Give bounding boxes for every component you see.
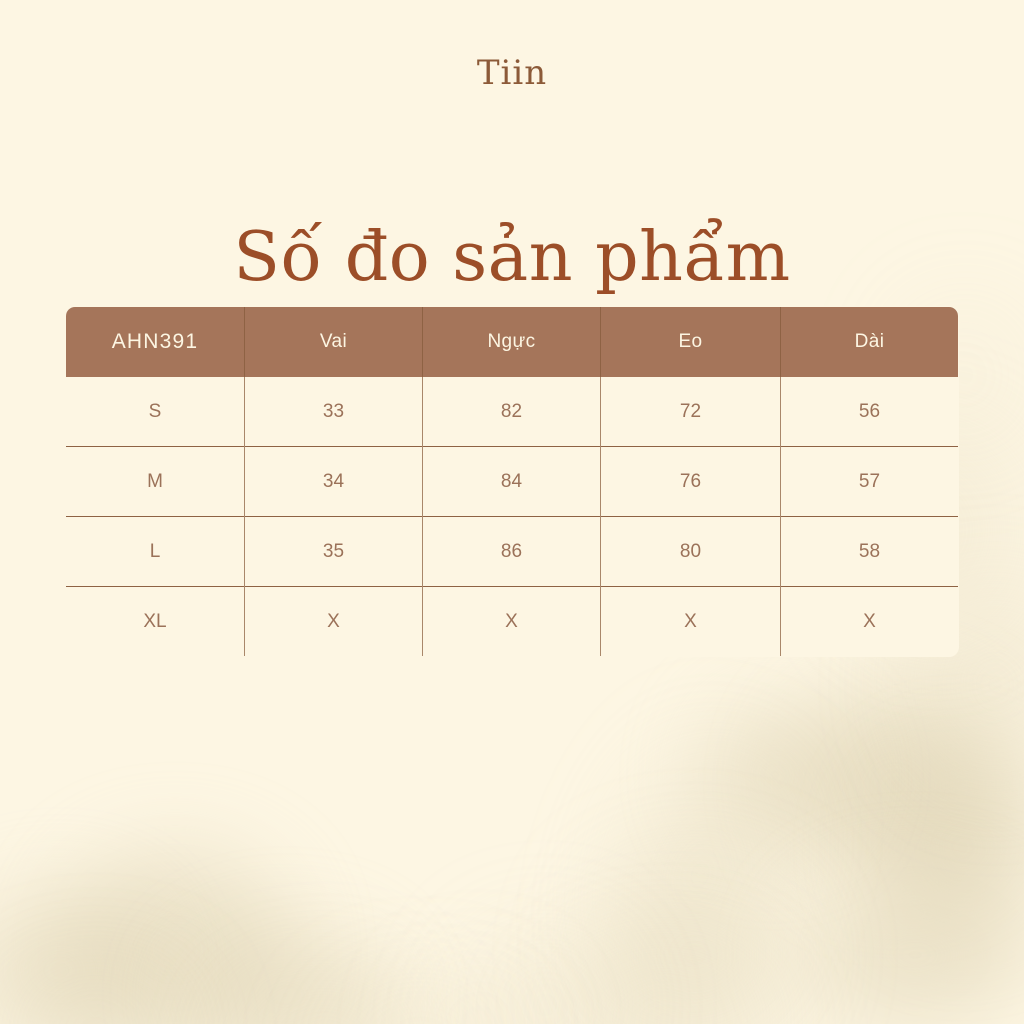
- cell-eo: 76: [601, 447, 781, 517]
- cell-eo: 80: [601, 517, 781, 587]
- cell-nguc: 86: [423, 517, 601, 587]
- cell-dai: 58: [781, 517, 959, 587]
- cell-dai: X: [781, 587, 959, 657]
- cell-vai: X: [245, 587, 423, 657]
- table-header-dai: Dài: [781, 307, 959, 378]
- table-header-eo: Eo: [601, 307, 781, 378]
- cell-size: S: [66, 377, 245, 447]
- table-body: S 33 82 72 56 M 34 84 76 57 L 35 86: [66, 377, 959, 657]
- cell-nguc: X: [423, 587, 601, 657]
- table-header-vai: Vai: [245, 307, 423, 378]
- table-header: AHN391 Vai Ngực Eo Dài: [66, 307, 959, 378]
- size-chart-page: Tiin Số đo sản phẩm AHN391 Vai Ngực Eo D…: [0, 0, 1024, 1024]
- brand-logo: Tiin: [0, 56, 1024, 90]
- page-title: Số đo sản phẩm: [0, 222, 1024, 293]
- table-row: L 35 86 80 58: [66, 517, 959, 587]
- table-header-row: AHN391 Vai Ngực Eo Dài: [66, 307, 959, 378]
- table-header-product-code: AHN391: [66, 307, 245, 378]
- cell-dai: 56: [781, 377, 959, 447]
- cell-nguc: 84: [423, 447, 601, 517]
- cell-eo: 72: [601, 377, 781, 447]
- cell-nguc: 82: [423, 377, 601, 447]
- table-row: S 33 82 72 56: [66, 377, 959, 447]
- cell-size: XL: [66, 587, 245, 657]
- size-table-container: AHN391 Vai Ngực Eo Dài S 33 82 72 56 M 3: [65, 306, 958, 654]
- cell-eo: X: [601, 587, 781, 657]
- product-measurement-table: AHN391 Vai Ngực Eo Dài S 33 82 72 56 M 3: [65, 306, 959, 657]
- table-row: M 34 84 76 57: [66, 447, 959, 517]
- cell-size: M: [66, 447, 245, 517]
- cell-size: L: [66, 517, 245, 587]
- table-row: XL X X X X: [66, 587, 959, 657]
- cell-dai: 57: [781, 447, 959, 517]
- cell-vai: 34: [245, 447, 423, 517]
- table-header-nguc: Ngực: [423, 307, 601, 378]
- cell-vai: 33: [245, 377, 423, 447]
- cell-vai: 35: [245, 517, 423, 587]
